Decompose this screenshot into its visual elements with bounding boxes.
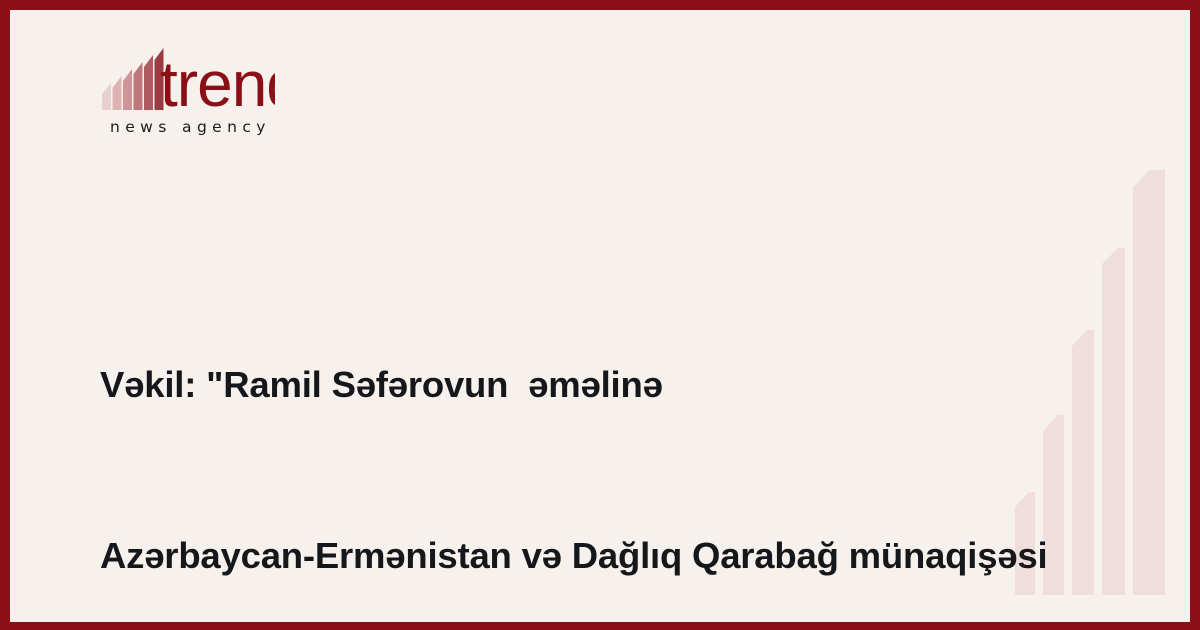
card-canvas: trend news agency Vəkil: "Ramil Səfərovu… bbox=[10, 10, 1190, 622]
watermark-bar-5 bbox=[1133, 170, 1165, 595]
trend-news-agency-logo[interactable]: trend news agency bbox=[100, 48, 340, 143]
logo-tagline: news agency bbox=[110, 118, 271, 136]
headline-line-1: Vəkil: "Ramil Səfərovun əməlinə bbox=[100, 356, 1110, 413]
logomark-bars bbox=[102, 48, 164, 110]
headline: Vəkil: "Ramil Səfərovun əməlinə Azərbayc… bbox=[100, 242, 1110, 622]
headline-line-2: Azərbaycan-Ermənistan və Dağlıq Qarabağ … bbox=[100, 527, 1110, 584]
logo-wordmark-text: trend bbox=[160, 48, 275, 110]
logo-wordmark-group: trend bbox=[100, 48, 275, 110]
share-card: trend news agency Vəkil: "Ramil Səfərovu… bbox=[0, 0, 1200, 630]
trend-logomark-icon: trend bbox=[100, 48, 275, 110]
